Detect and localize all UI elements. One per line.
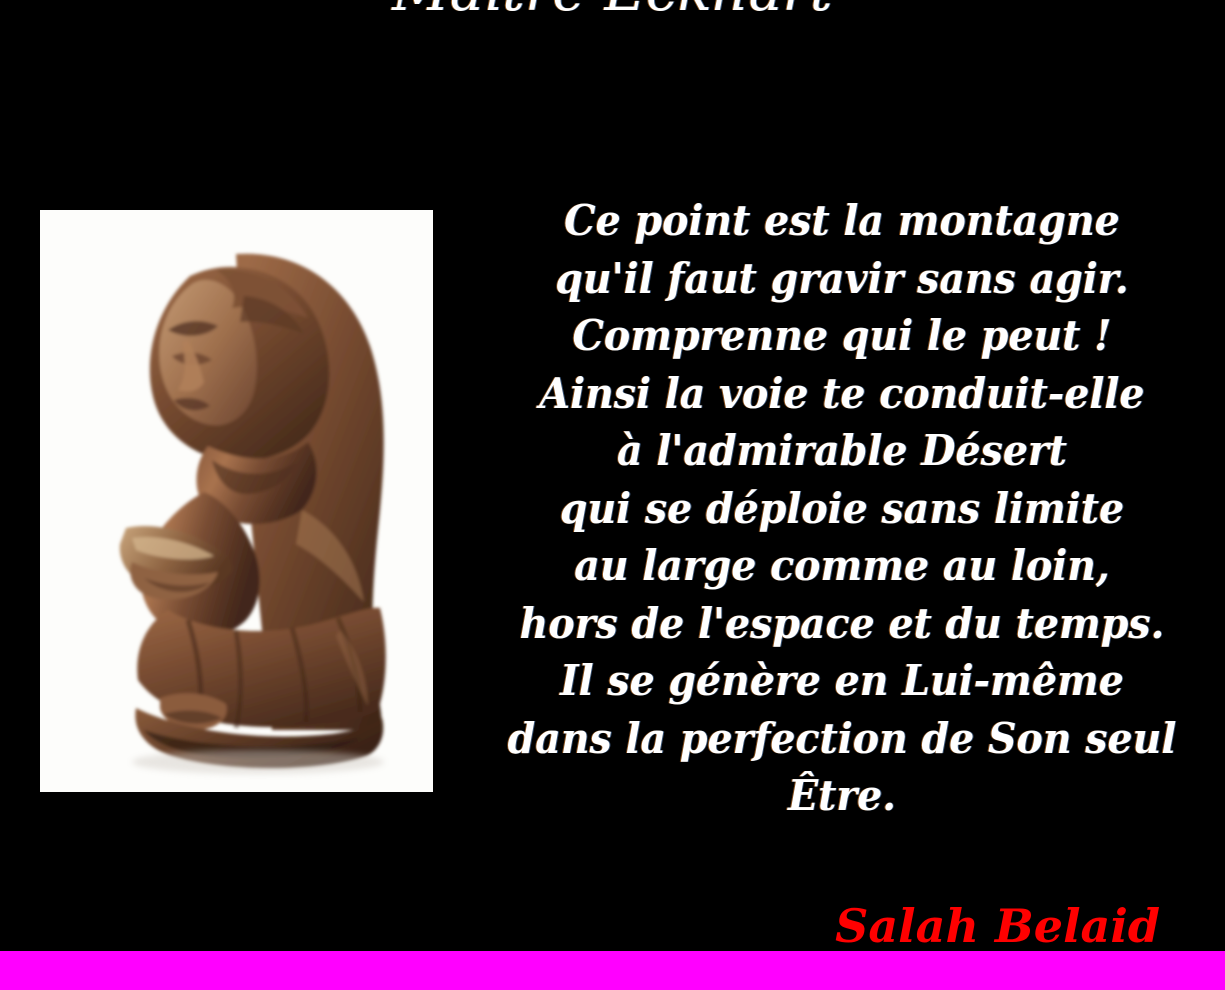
- quote-line: Être.: [485, 767, 1199, 825]
- quote-line: dans la perfection de Son seul: [485, 710, 1199, 768]
- quote-line: au large comme au loin,: [485, 537, 1199, 595]
- author-signature: Salah Belaid: [0, 903, 1160, 949]
- quote-line: hors de l'espace et du temps.: [485, 595, 1199, 653]
- quote-line: qu'il faut gravir sans agir.: [485, 250, 1199, 308]
- page-title: Maître Eckhart: [0, 0, 1225, 20]
- slide-canvas: Maître Eckhart: [0, 0, 1225, 990]
- quote-line: Il se génère en Lui-même: [485, 652, 1199, 710]
- quote-line: Ainsi la voie te conduit-elle: [485, 365, 1199, 423]
- footer-bar: [0, 951, 1225, 990]
- quote-line: Ce point est la montagne: [485, 192, 1199, 250]
- quote-line: qui se déploie sans limite: [485, 480, 1199, 538]
- quote-line: Comprenne qui le peut !: [485, 307, 1199, 365]
- quote-line: à l'admirable Désert: [485, 422, 1199, 480]
- quote-text-block: Ce point est la montagne qu'il faut grav…: [462, 192, 1222, 825]
- bronze-sculpture-image: [40, 210, 433, 792]
